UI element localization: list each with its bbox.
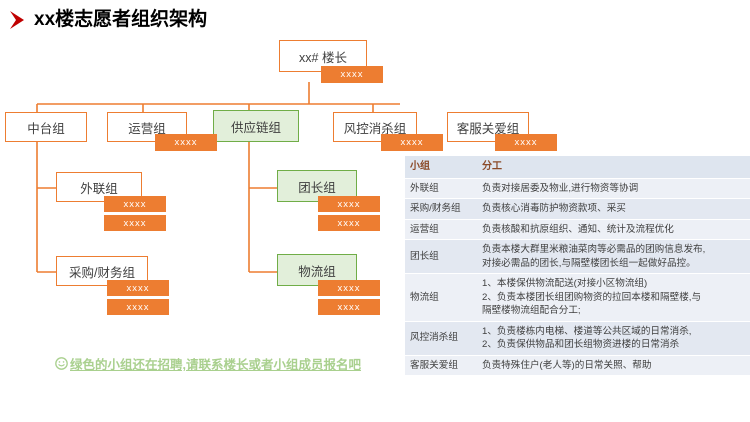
table-cell-duty: 负责核心消毒防护物资款项、采买	[477, 199, 750, 220]
table-cell-duty-line: 2、负责本楼团长组团购物资的拉回本楼和隔壁楼,与	[482, 291, 745, 305]
table-row: 外联组负责对接居委及物业,进行物资等协调	[405, 178, 750, 199]
org-chart: xx# 楼长 xxxx 中台组 运营组 xxxx 供应链组 风控消杀组 xxxx…	[0, 0, 400, 348]
table-cell-group: 采购/财务组	[405, 199, 477, 220]
org-node-label: 中台组	[27, 118, 65, 137]
smiley-face-icon	[55, 357, 68, 370]
table-cell-duty: 1、本楼保供物流配送(对接小区物流组)2、负责本楼团长组团购物资的拉回本楼和隔壁…	[477, 274, 750, 322]
table-cell-duty-line: 2、负责保供物品和团长组物资进楼的日常消杀	[482, 338, 745, 352]
table-cell-group: 外联组	[405, 178, 477, 199]
table-row: 风控消杀组1、负责楼栋内电梯、楼道等公共区域的日常消杀,2、负责保供物品和团长组…	[405, 321, 750, 355]
org-node-badge[interactable]: xxxx	[321, 66, 383, 83]
table-cell-duty: 负责本楼大群里米粮油菜肉等必需品的团购信息发布,对接必需品的团长,与隔壁楼团长组…	[477, 240, 750, 274]
table-cell-duty-line: 负责核心消毒防护物资款项、采买	[482, 202, 745, 216]
table-cell-group: 客服关爱组	[405, 355, 477, 375]
org-node-badge[interactable]: xxxx	[107, 280, 169, 296]
table-cell-group: 风控消杀组	[405, 321, 477, 355]
table-cell-group: 物流组	[405, 274, 477, 322]
table-cell-duty: 1、负责楼栋内电梯、楼道等公共区域的日常消杀,2、负责保供物品和团长组物资进楼的…	[477, 321, 750, 355]
table-cell-duty-line: 隔壁楼物流组配合分工;	[482, 304, 745, 318]
org-node-badge[interactable]: xxxx	[104, 215, 166, 231]
recruiting-note-text: 绿色的小组还在招聘,请联系楼长或者小组成员报名吧	[70, 354, 361, 373]
table-cell-duty: 负责对接居委及物业,进行物资等协调	[477, 178, 750, 199]
table-row: 采购/财务组负责核心消毒防护物资款项、采买	[405, 199, 750, 220]
org-node-badge[interactable]: xxxx	[318, 299, 380, 315]
duty-table: 小组 分工 外联组负责对接居委及物业,进行物资等协调采购/财务组负责核心消毒防护…	[405, 156, 750, 375]
org-node-badge[interactable]: xxxx	[318, 196, 380, 212]
table-row: 运营组负责核酸和抗原组织、通知、统计及流程优化	[405, 219, 750, 240]
org-node-label: 采购/财务组	[69, 262, 135, 281]
table-header-duty: 分工	[477, 156, 750, 178]
table-cell-group: 运营组	[405, 219, 477, 240]
table-header-group: 小组	[405, 156, 477, 178]
table-cell-duty: 负责特殊住户(老人等)的日常关照、帮助	[477, 355, 750, 375]
table-cell-duty: 负责核酸和抗原组织、通知、统计及流程优化	[477, 219, 750, 240]
table-row: 客服关爱组负责特殊住户(老人等)的日常关照、帮助	[405, 355, 750, 375]
org-node-badge[interactable]: xxxx	[318, 215, 380, 231]
table-cell-group: 团长组	[405, 240, 477, 274]
table-cell-duty-line: 1、本楼保供物流配送(对接小区物流组)	[482, 277, 745, 291]
table-cell-duty-line: 负责特殊住户(老人等)的日常关照、帮助	[482, 359, 745, 373]
org-node-gongyinglian[interactable]: 供应链组	[213, 110, 299, 142]
org-node-label: 供应链组	[231, 117, 281, 136]
org-node-badge[interactable]: xxxx	[107, 299, 169, 315]
org-node-badge[interactable]: xxxx	[155, 134, 217, 151]
org-node-badge[interactable]: xxxx	[318, 280, 380, 296]
recruiting-note: 绿色的小组还在招聘,请联系楼长或者小组成员报名吧	[55, 354, 361, 373]
org-node-zhongtai[interactable]: 中台组	[5, 112, 87, 142]
org-node-badge[interactable]: xxxx	[495, 134, 557, 151]
table-header-row: 小组 分工	[405, 156, 750, 178]
org-node-label: 团长组	[298, 177, 336, 196]
table-cell-duty-line: 负责核酸和抗原组织、通知、统计及流程优化	[482, 223, 745, 237]
org-node-label: xx# 楼长	[299, 47, 347, 66]
org-node-label: 物流组	[298, 261, 336, 280]
table-cell-duty-line: 1、负责楼栋内电梯、楼道等公共区域的日常消杀,	[482, 325, 745, 339]
table-cell-duty-line: 对接必需品的团长,与隔壁楼团长组一起做好品控。	[482, 257, 745, 271]
table-row: 团长组负责本楼大群里米粮油菜肉等必需品的团购信息发布,对接必需品的团长,与隔壁楼…	[405, 240, 750, 274]
table-row: 物流组1、本楼保供物流配送(对接小区物流组)2、负责本楼团长组团购物资的拉回本楼…	[405, 274, 750, 322]
org-node-label: 外联组	[80, 178, 118, 197]
table-cell-duty-line: 负责对接居委及物业,进行物资等协调	[482, 182, 745, 196]
org-node-badge[interactable]: xxxx	[381, 134, 443, 151]
org-node-badge[interactable]: xxxx	[104, 196, 166, 212]
table-cell-duty-line: 负责本楼大群里米粮油菜肉等必需品的团购信息发布,	[482, 243, 745, 257]
